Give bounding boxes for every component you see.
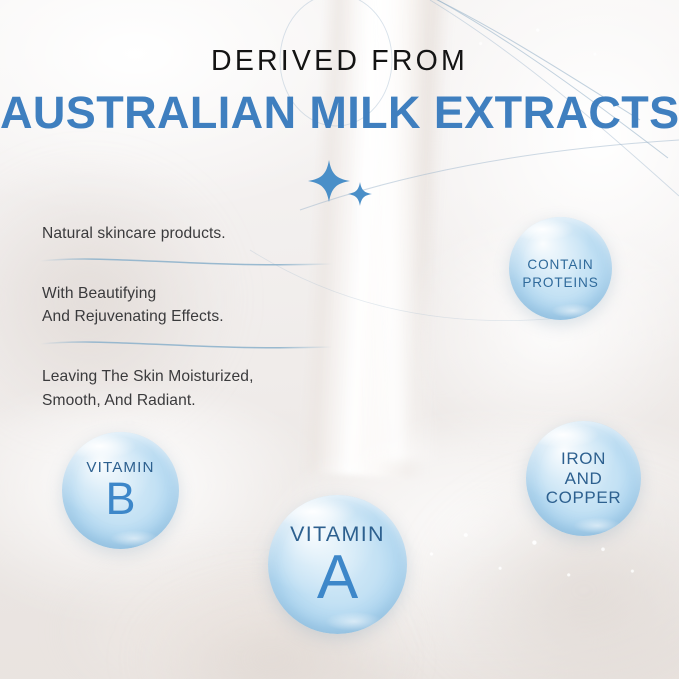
wave-divider-1 (38, 255, 334, 271)
headline-kicker: DERIVED FROM (0, 47, 679, 76)
headline-title: AUSTRALIAN MILK EXTRACTS (0, 90, 679, 135)
bubble-iron-line-3: COPPER (546, 488, 621, 508)
sparkle-group (303, 158, 379, 210)
copy-line-2a: With Beautifying (42, 282, 342, 306)
bubble-iron-line-2: AND (565, 469, 603, 489)
sparkle-four-point-small (348, 182, 372, 206)
bubble-contain-proteins[interactable]: CONTAIN PROTEINS (509, 217, 612, 320)
bubble-iron-and-copper[interactable]: IRON AND COPPER (526, 421, 641, 536)
bubble-proteins-line-1: CONTAIN (522, 256, 598, 273)
copy-line-3a: Leaving The Skin Moisturized, (42, 365, 342, 389)
bubble-vitamin-b-letter: B (105, 477, 135, 521)
bubble-vitamin-b[interactable]: VITAMIN B (62, 432, 179, 549)
bubble-proteins-line-2: PROTEINS (522, 274, 598, 291)
copy-line-1: Natural skincare products. (42, 222, 342, 246)
bubble-vitamin-a[interactable]: VITAMIN A (268, 495, 407, 634)
wave-divider-2 (38, 338, 334, 354)
headline-block: DERIVED FROM AUSTRALIAN MILK EXTRACTS (0, 47, 679, 135)
poster-canvas: DERIVED FROM AUSTRALIAN MILK EXTRACTS Na… (0, 0, 679, 679)
copy-block: Natural skincare products. With Beautify… (42, 222, 342, 412)
bubble-vitamin-a-letter: A (317, 548, 358, 608)
copy-line-3b: Smooth, And Radiant. (42, 389, 342, 413)
copy-line-2b: And Rejuvenating Effects. (42, 305, 342, 329)
bubble-iron-line-1: IRON (561, 449, 606, 469)
sparkle-four-point-large (308, 160, 350, 202)
